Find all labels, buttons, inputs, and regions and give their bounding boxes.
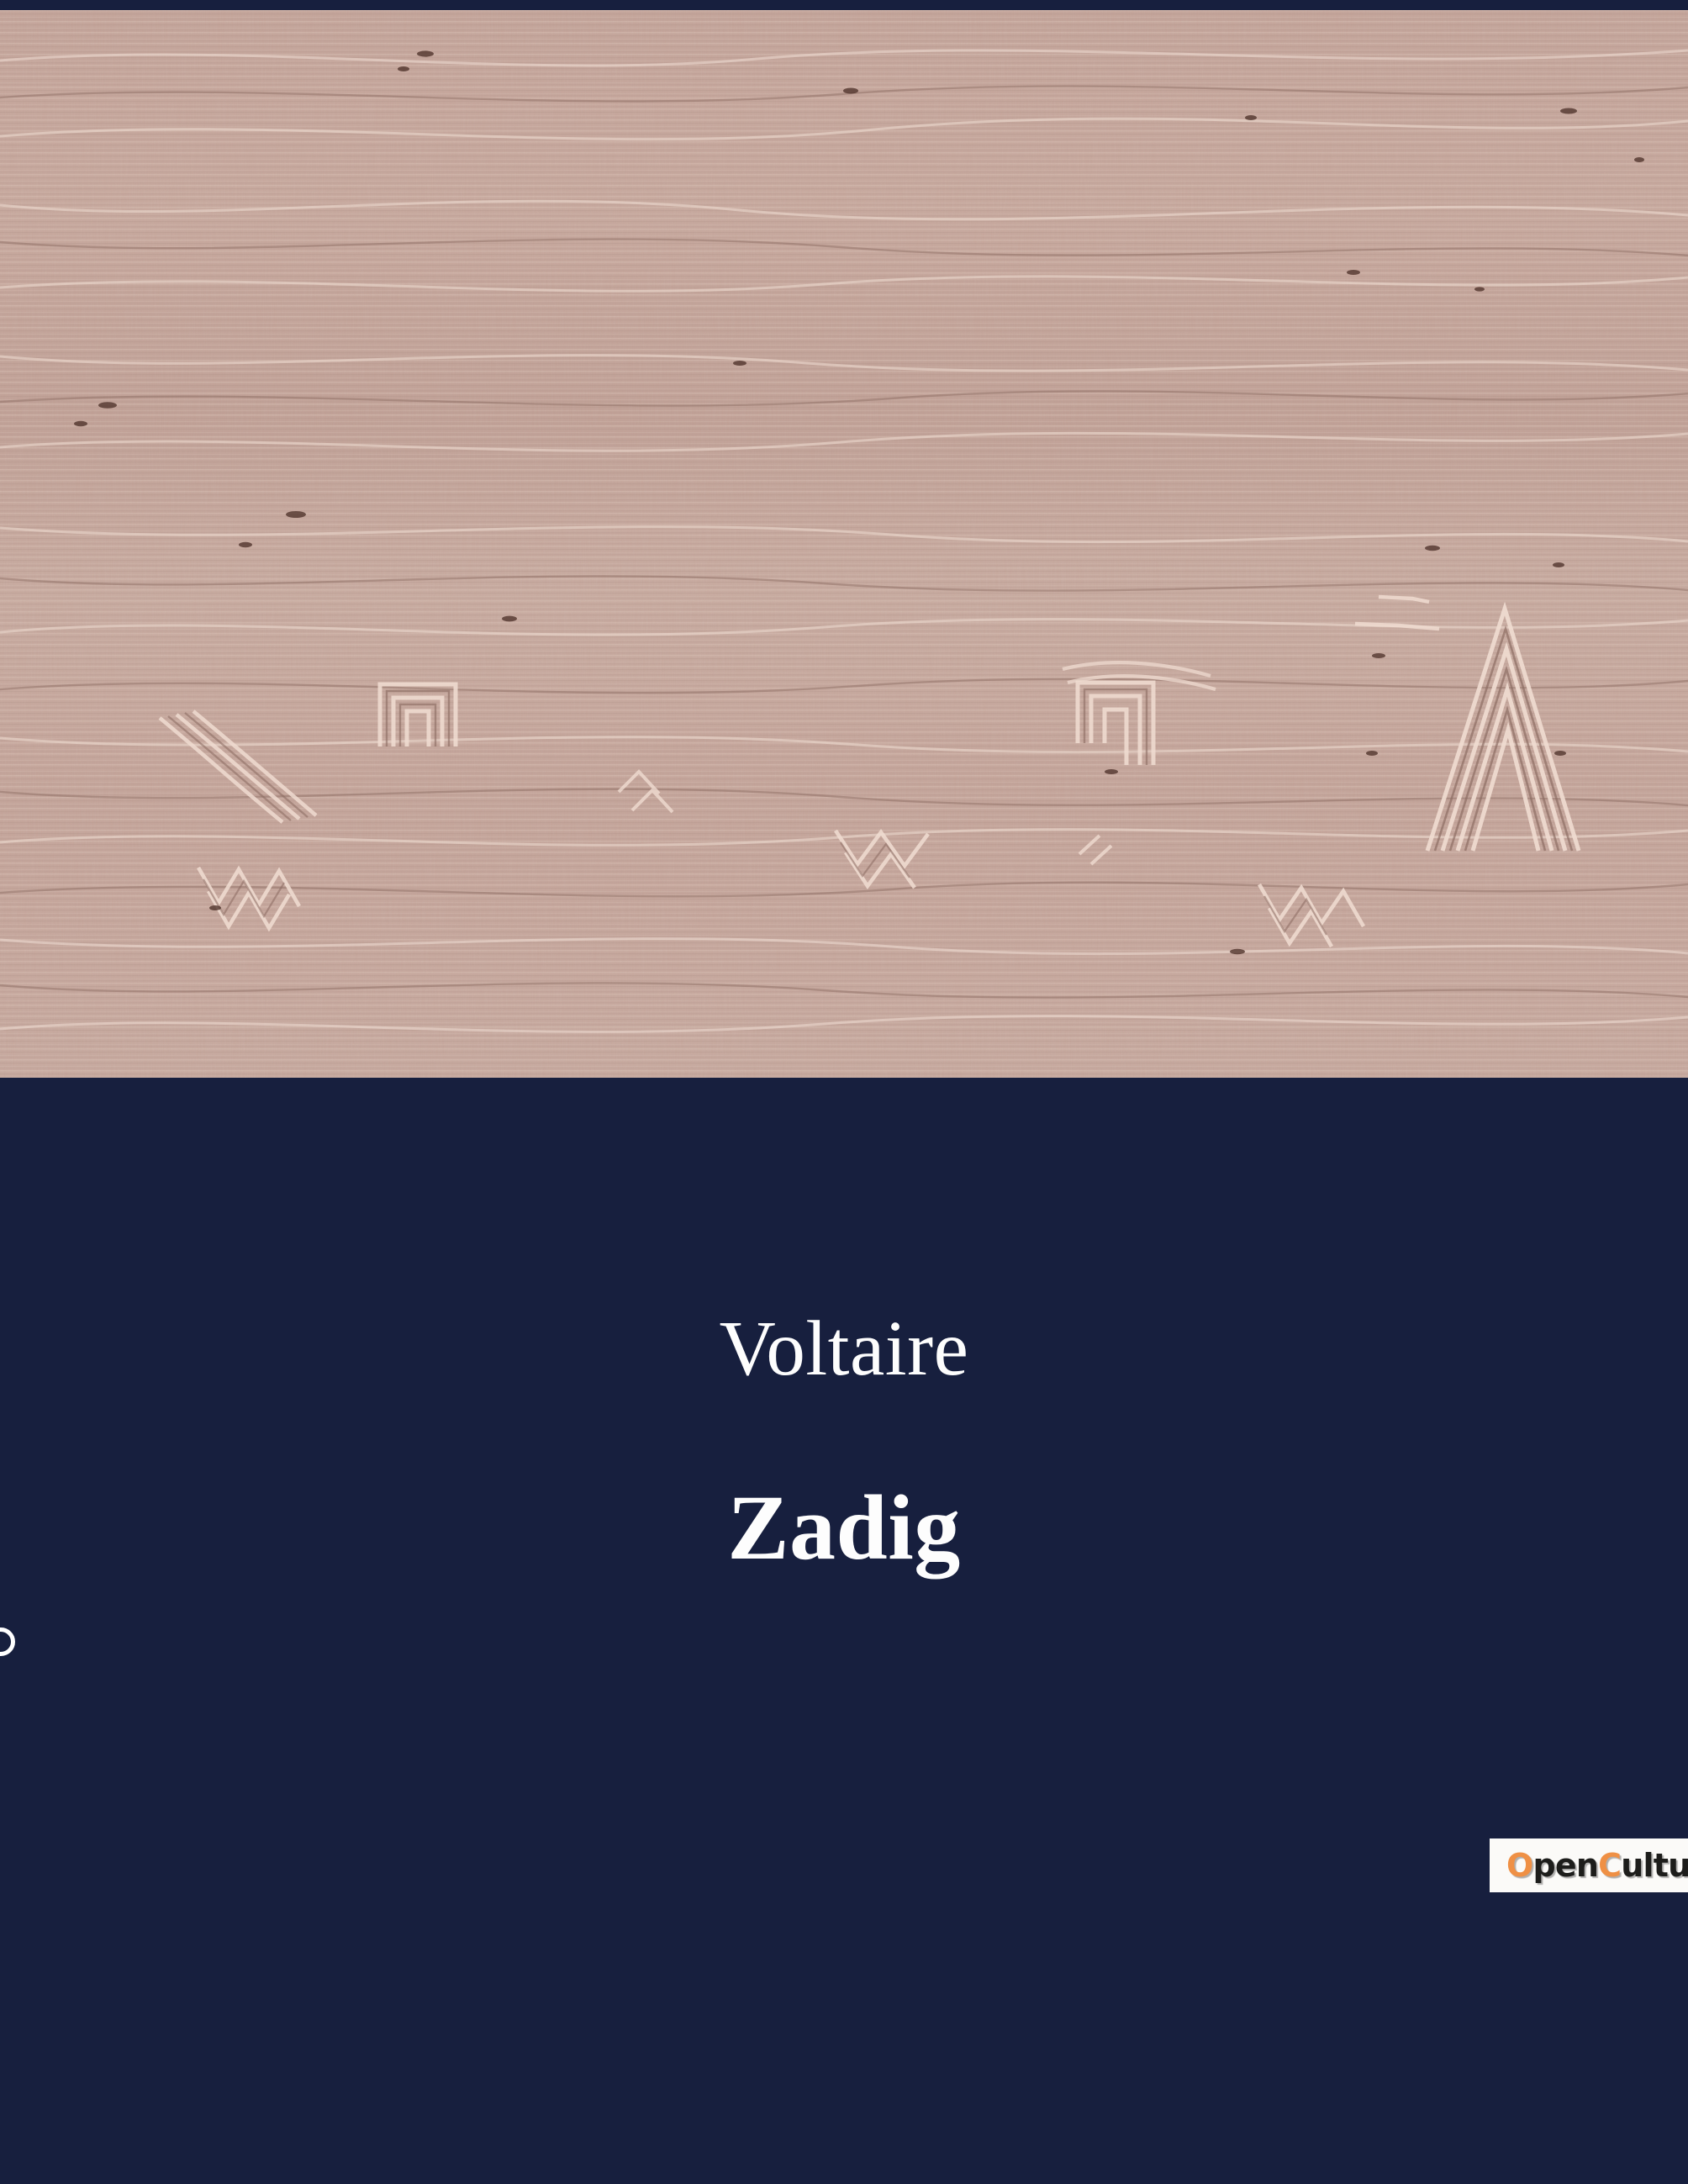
cover-artwork bbox=[0, 10, 1688, 1078]
logo-letter-c: C bbox=[1598, 1847, 1621, 1884]
logo-letter-o: O bbox=[1506, 1847, 1533, 1884]
book-cover: Voltaire Zadig OpenCulture bbox=[0, 0, 1688, 2184]
author-name: Voltaire bbox=[0, 1310, 1688, 1388]
woodgrain-texture-svg bbox=[0, 10, 1688, 1078]
cover-text-block: Voltaire Zadig bbox=[0, 1078, 1688, 2184]
logo-letters-ulture: ulture bbox=[1621, 1847, 1688, 1884]
book-title: Zadig bbox=[0, 1481, 1688, 1574]
top-navy-strip bbox=[0, 0, 1688, 10]
openculture-wordmark: OpenCulture bbox=[1506, 1849, 1688, 1881]
openculture-logo[interactable]: OpenCulture bbox=[1490, 1838, 1688, 1892]
edge-cutoff-glyph bbox=[0, 1627, 15, 1656]
logo-letters-pen: pen bbox=[1533, 1847, 1599, 1884]
